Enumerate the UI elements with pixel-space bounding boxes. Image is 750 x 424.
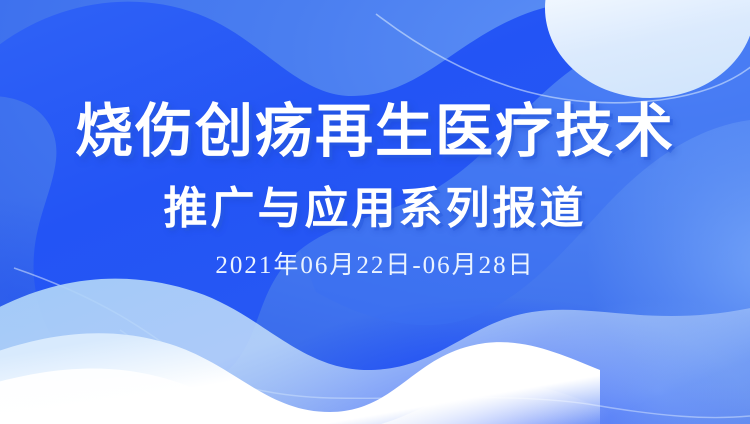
- banner-date-range: 2021年06月22日-06月28日: [215, 253, 534, 278]
- promo-banner: 烧伤创疡再生医疗技术 推广与应用系列报道 2021年06月22日-06月28日: [0, 0, 750, 424]
- banner-subtitle: 推广与应用系列报道: [164, 187, 587, 231]
- banner-content: 烧伤创疡再生医疗技术 推广与应用系列报道 2021年06月22日-06月28日: [0, 0, 750, 424]
- banner-title: 烧伤创疡再生医疗技术: [75, 103, 675, 161]
